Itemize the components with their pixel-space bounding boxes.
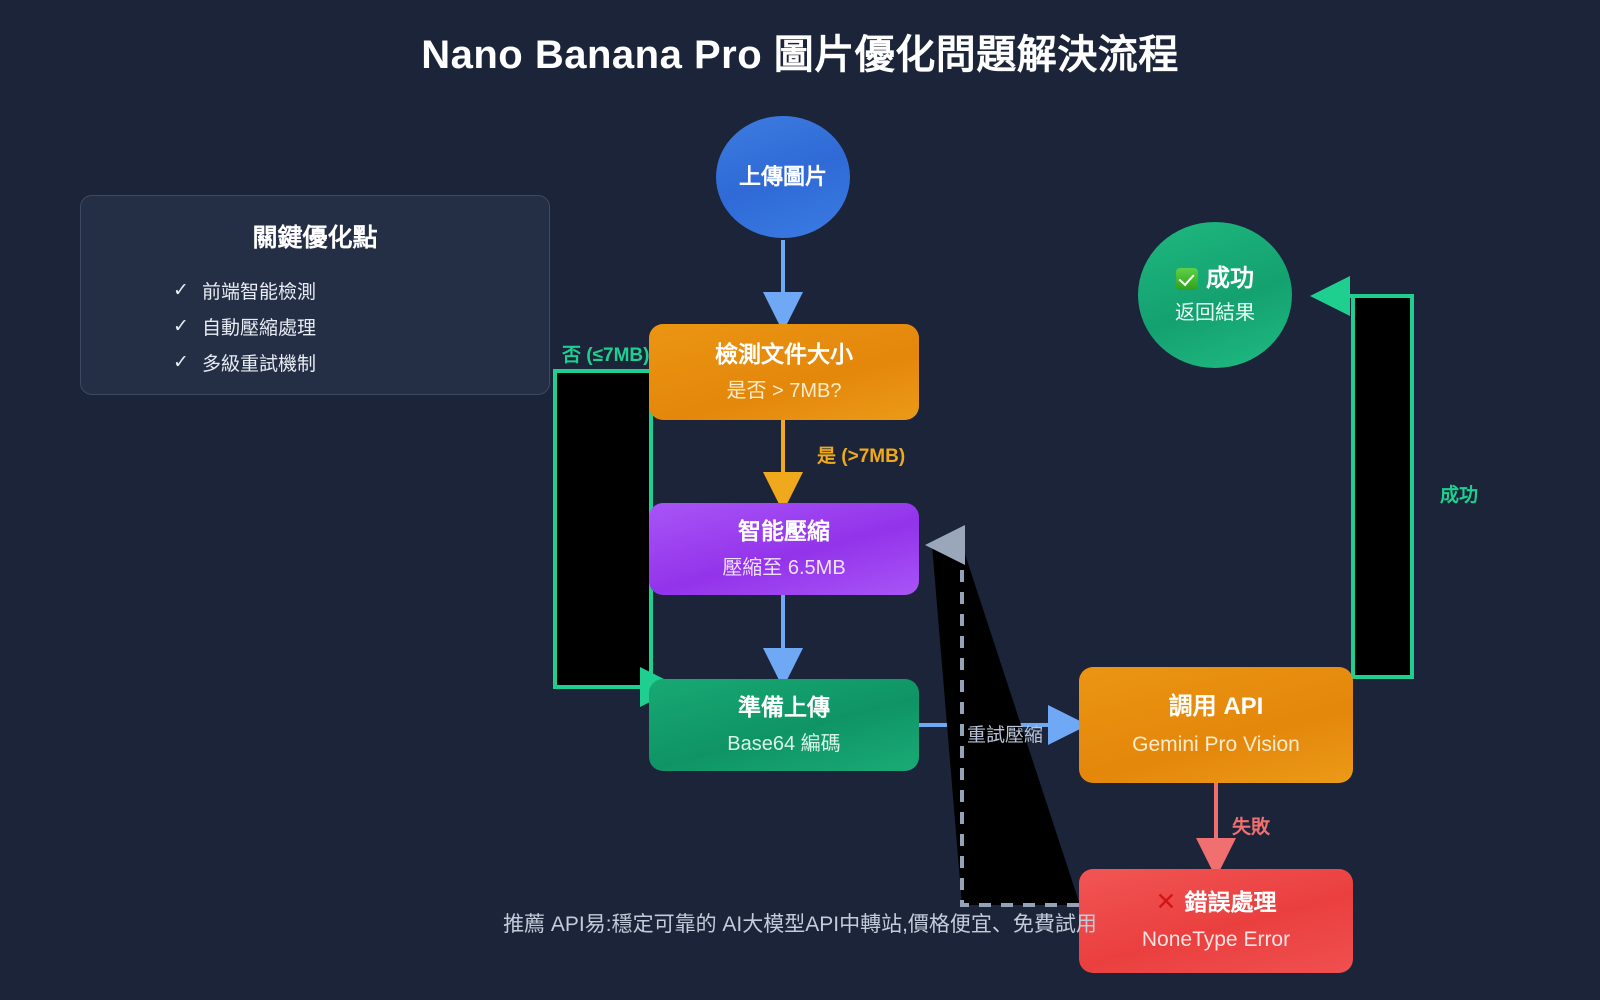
node-call-api-title: 調用 API (1169, 692, 1264, 722)
key-optimizations-title: 關鍵優化點 (81, 218, 549, 254)
key-optimizations-list: ✓ 前端智能檢測 ✓ 自動壓縮處理 ✓ 多級重試機制 (81, 272, 549, 380)
edge-label-no-under-7mb: 否 (≤7MB) (562, 340, 649, 367)
list-item-label: 前端智能檢測 (202, 277, 316, 304)
edge-api-to-success (1353, 296, 1412, 677)
node-detect-file-size-title: 檢測文件大小 (715, 340, 853, 369)
check-icon: ✓ (173, 351, 189, 374)
node-prepare-upload-subtitle: Base64 編碼 (727, 731, 840, 757)
edge-detect-to-prepare (555, 371, 651, 687)
page-title: Nano Banana Pro 圖片優化問題解決流程 (0, 22, 1600, 80)
node-prepare-upload[interactable]: 準備上傳 Base64 編碼 (649, 679, 919, 771)
edge-label-yes-over-7mb: 是 (>7MB) (817, 441, 905, 468)
node-success-subtitle: 返回結果 (1175, 300, 1255, 326)
node-smart-compress-subtitle: 壓縮至 6.5MB (722, 555, 845, 581)
list-item-label: 多級重試機制 (202, 349, 316, 376)
node-upload-image[interactable]: 上傳圖片 (716, 116, 850, 238)
check-mark-icon (1176, 268, 1198, 290)
node-success-title: 成功 (1206, 264, 1254, 294)
list-item: ✓ 自動壓縮處理 (173, 308, 549, 344)
node-prepare-upload-title: 準備上傳 (738, 693, 830, 722)
node-detect-file-size[interactable]: 檢測文件大小 是否 > 7MB? (649, 324, 919, 420)
node-smart-compress-title: 智能壓縮 (738, 517, 830, 546)
node-call-api[interactable]: 調用 API Gemini Pro Vision (1079, 667, 1353, 783)
edge-label-retry-compress: 重試壓縮 (967, 720, 1043, 747)
node-detect-file-size-subtitle: 是否 > 7MB? (726, 378, 841, 404)
list-item: ✓ 多級重試機制 (173, 344, 549, 380)
list-item: ✓ 前端智能檢測 (173, 272, 549, 308)
node-smart-compress[interactable]: 智能壓縮 壓縮至 6.5MB (649, 503, 919, 595)
edge-label-fail: 失敗 (1232, 812, 1270, 839)
edge-label-success: 成功 (1440, 480, 1478, 507)
footer-note: 推薦 API易:穩定可靠的 AI大模型API中轉站,價格便宜、免費試用 (0, 908, 1600, 938)
node-success-title-row: 成功 (1176, 264, 1254, 294)
key-optimizations-panel: 關鍵優化點 ✓ 前端智能檢測 ✓ 自動壓縮處理 ✓ 多級重試機制 (80, 195, 550, 395)
flowchart-canvas: Nano Banana Pro 圖片優化問題解決流程 關鍵優化點 ✓ 前端智能檢… (0, 0, 1600, 1000)
list-item-label: 自動壓縮處理 (202, 313, 316, 340)
node-success[interactable]: 成功 返回結果 (1138, 222, 1292, 368)
node-call-api-subtitle: Gemini Pro Vision (1132, 731, 1300, 758)
node-upload-image-title: 上傳圖片 (739, 163, 827, 191)
check-icon: ✓ (173, 315, 189, 338)
check-icon: ✓ (173, 279, 189, 302)
